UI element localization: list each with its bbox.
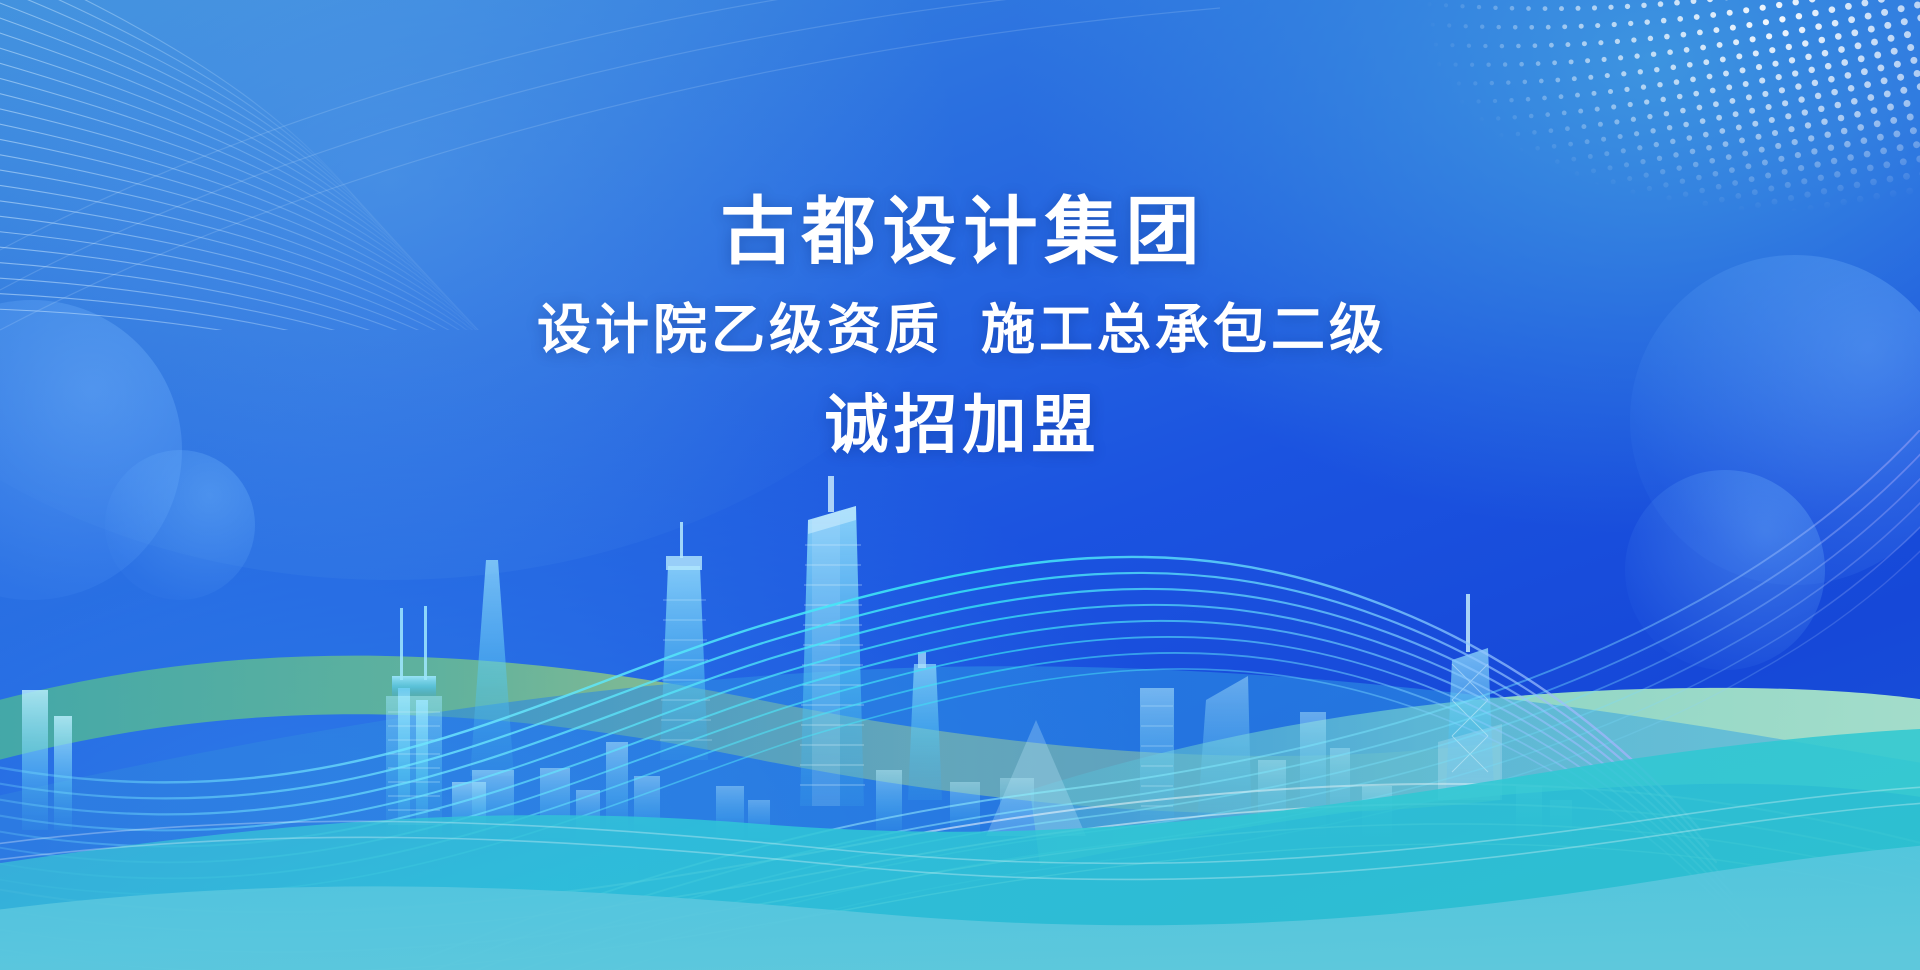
mint-green-ribbon	[1030, 688, 1920, 866]
teal-hill-light	[0, 844, 1920, 970]
page-tagline: 诚招加盟	[0, 393, 1920, 457]
page-subtitle: 设计院乙级资质 施工总承包二级	[0, 303, 1920, 357]
mid-blue-hill	[0, 666, 1920, 970]
decor-circle-right-small	[1625, 470, 1825, 670]
promo-banner: 古都设计集团 设计院乙级资质 施工总承包二级 诚招加盟	[0, 0, 1920, 970]
teal-hill-main	[0, 728, 1920, 970]
page-title: 古都设计集团	[0, 195, 1920, 269]
headline-block: 古都设计集团 设计院乙级资质 施工总承包二级 诚招加盟	[0, 195, 1920, 457]
olive-green-ribbon	[0, 656, 1500, 814]
